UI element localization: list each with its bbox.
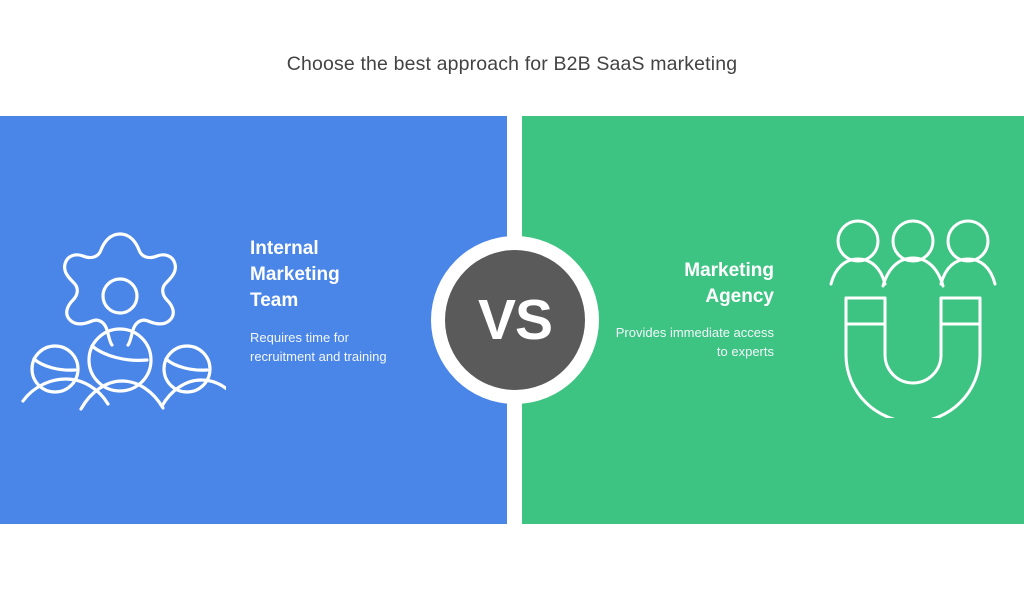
left-panel-heading: Internal Marketing Team	[250, 236, 390, 314]
right-panel-heading: Marketing Agency	[612, 258, 774, 310]
right-panel-body: Provides immediate access to experts	[612, 323, 774, 361]
left-panel-body: Requires time for recruitment and traini…	[250, 328, 390, 366]
vs-badge-circle: VS	[445, 250, 585, 390]
vs-label: VS	[478, 292, 552, 349]
page-title: Choose the best approach for B2B SaaS ma…	[0, 50, 1024, 78]
vs-badge: VS	[431, 236, 599, 404]
infographic-canvas: Choose the best approach for B2B SaaS ma…	[0, 0, 1024, 614]
magnet-people-icon	[818, 218, 1008, 418]
right-text-block: Marketing Agency Provides immediate acce…	[612, 258, 774, 361]
gear-people-icon	[14, 218, 226, 418]
left-text-block: Internal Marketing Team Requires time fo…	[250, 236, 390, 366]
